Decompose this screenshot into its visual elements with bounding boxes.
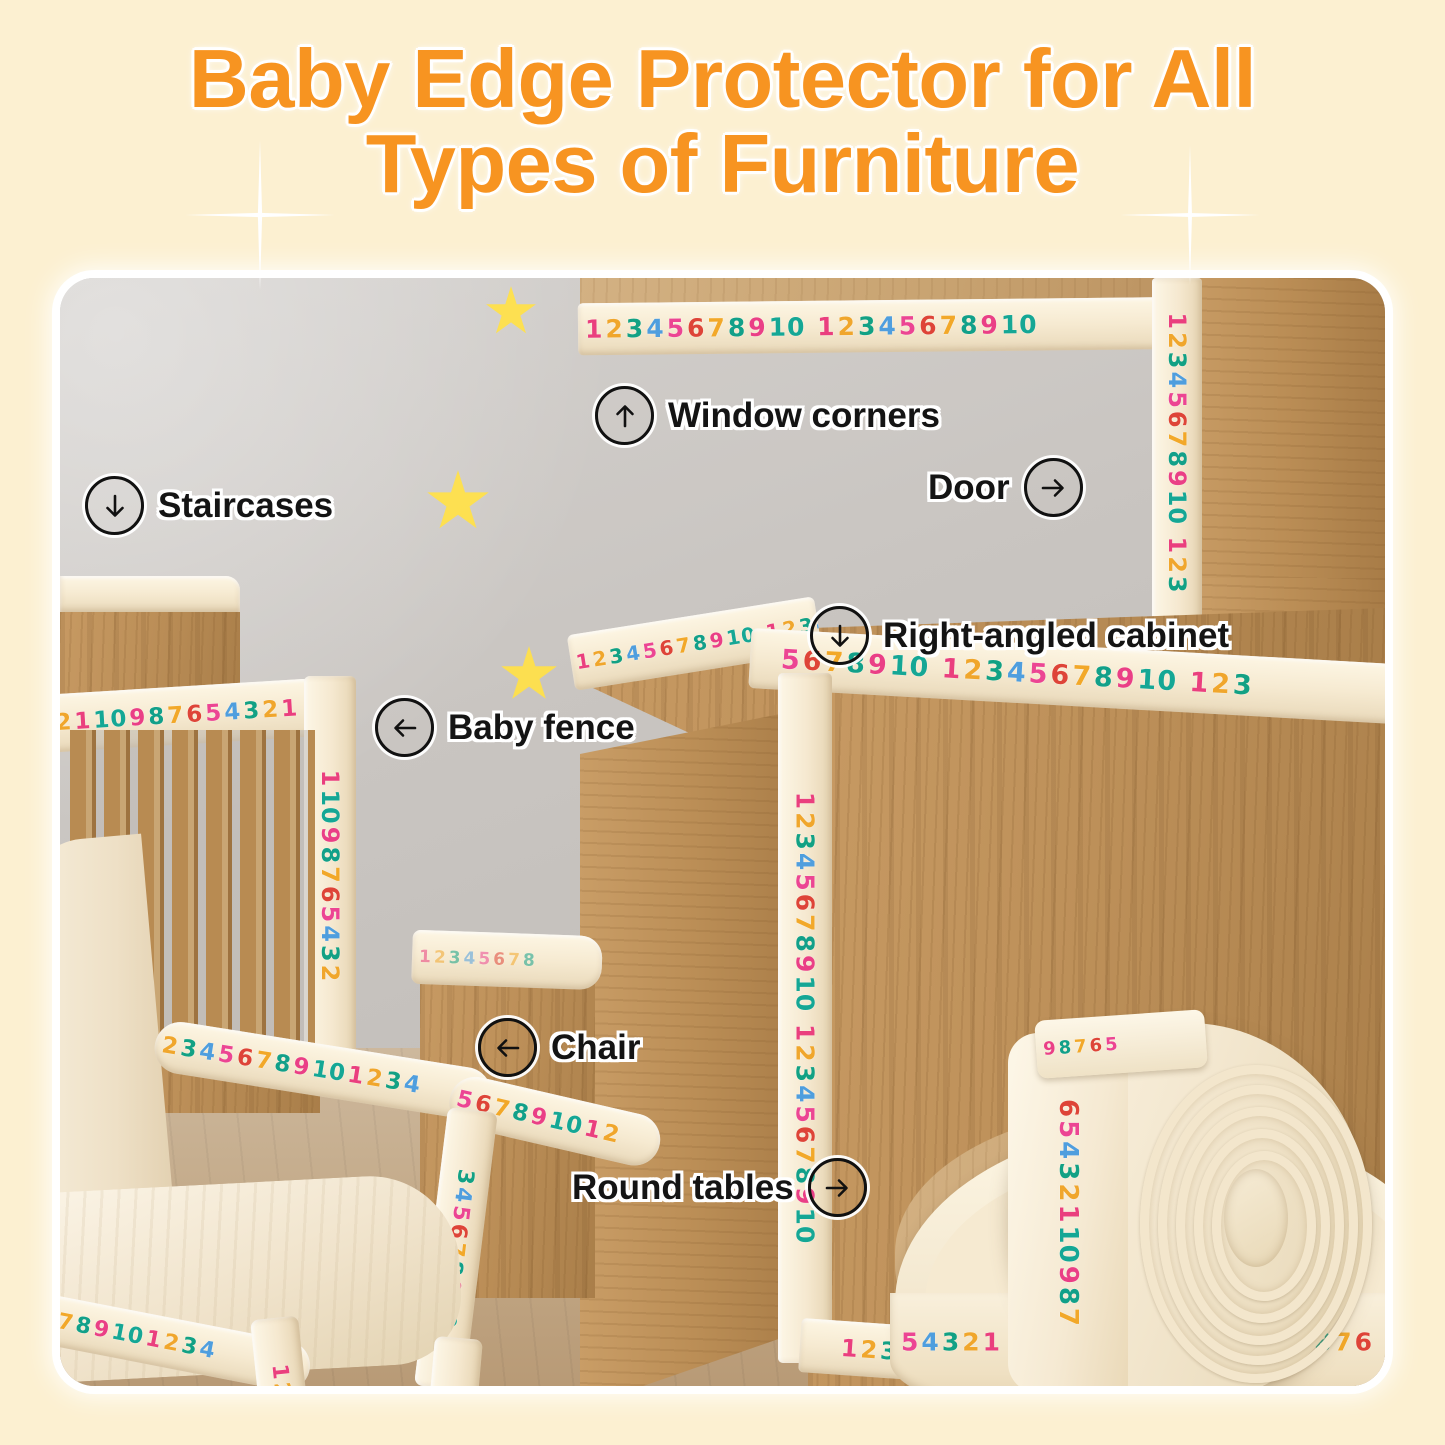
- callout-door[interactable]: Door: [928, 458, 1083, 517]
- number-pattern: 11098765432: [316, 769, 344, 984]
- callout-label: Door: [928, 468, 1010, 508]
- protector-roll: 65432110987 98765: [1008, 1023, 1368, 1386]
- number-pattern: 12345678910 12345678910: [584, 310, 1039, 344]
- protector-strip-cabinet-corner: 12345678910 12345678910: [778, 673, 832, 1363]
- infographic-page: Baby Edge Protector for All Types of Fur…: [0, 0, 1445, 1445]
- callout-right-angled-cabinet[interactable]: Right-angled cabinet: [810, 606, 1229, 665]
- callout-staircases[interactable]: Staircases: [85, 476, 333, 535]
- protector-strip-door: 12345678910 123: [1152, 278, 1202, 628]
- callout-label: Staircases: [158, 486, 333, 526]
- door-panel: [1180, 278, 1385, 623]
- callout-round-tables[interactable]: Round tables: [572, 1158, 867, 1217]
- arrow-down-circle-icon: [85, 476, 144, 535]
- callout-baby-fence[interactable]: Baby fence: [375, 698, 635, 757]
- protector-strip-crib-top: [60, 576, 240, 612]
- callout-label: Chair: [551, 1028, 640, 1068]
- callout-label: Baby fence: [448, 708, 635, 748]
- page-title: Baby Edge Protector for All Types of Fur…: [0, 36, 1445, 254]
- arrow-down-circle-icon: [810, 606, 869, 665]
- number-pattern: 98765: [1041, 1034, 1120, 1060]
- callout-label: Right-angled cabinet: [883, 616, 1229, 656]
- callout-chair[interactable]: Chair: [478, 1018, 640, 1077]
- arrow-up-circle-icon: [595, 386, 654, 445]
- number-pattern: 65432110987: [1053, 1098, 1083, 1328]
- callout-window-corners[interactable]: Window corners: [595, 386, 940, 445]
- arrow-right-circle-icon: [808, 1158, 867, 1217]
- number-pattern: 12345678: [418, 947, 537, 971]
- protector-strip-window: 12345678910 12345678910: [578, 297, 1209, 356]
- arrow-right-circle-icon: [1024, 458, 1083, 517]
- product-photo: 12345678910 12345678910 12345678910 123 …: [60, 278, 1385, 1386]
- title-line-1: Baby Edge Protector for All: [0, 36, 1445, 121]
- callout-label: Round tables: [572, 1168, 794, 1208]
- protector-strip-bench-top: 12345678: [411, 930, 603, 991]
- number-pattern: 12345678910 123: [1163, 311, 1191, 594]
- callout-label: Window corners: [668, 396, 940, 436]
- title-line-2: Types of Furniture: [0, 121, 1445, 206]
- arrow-left-circle-icon: [478, 1018, 537, 1077]
- arrow-left-circle-icon: [375, 698, 434, 757]
